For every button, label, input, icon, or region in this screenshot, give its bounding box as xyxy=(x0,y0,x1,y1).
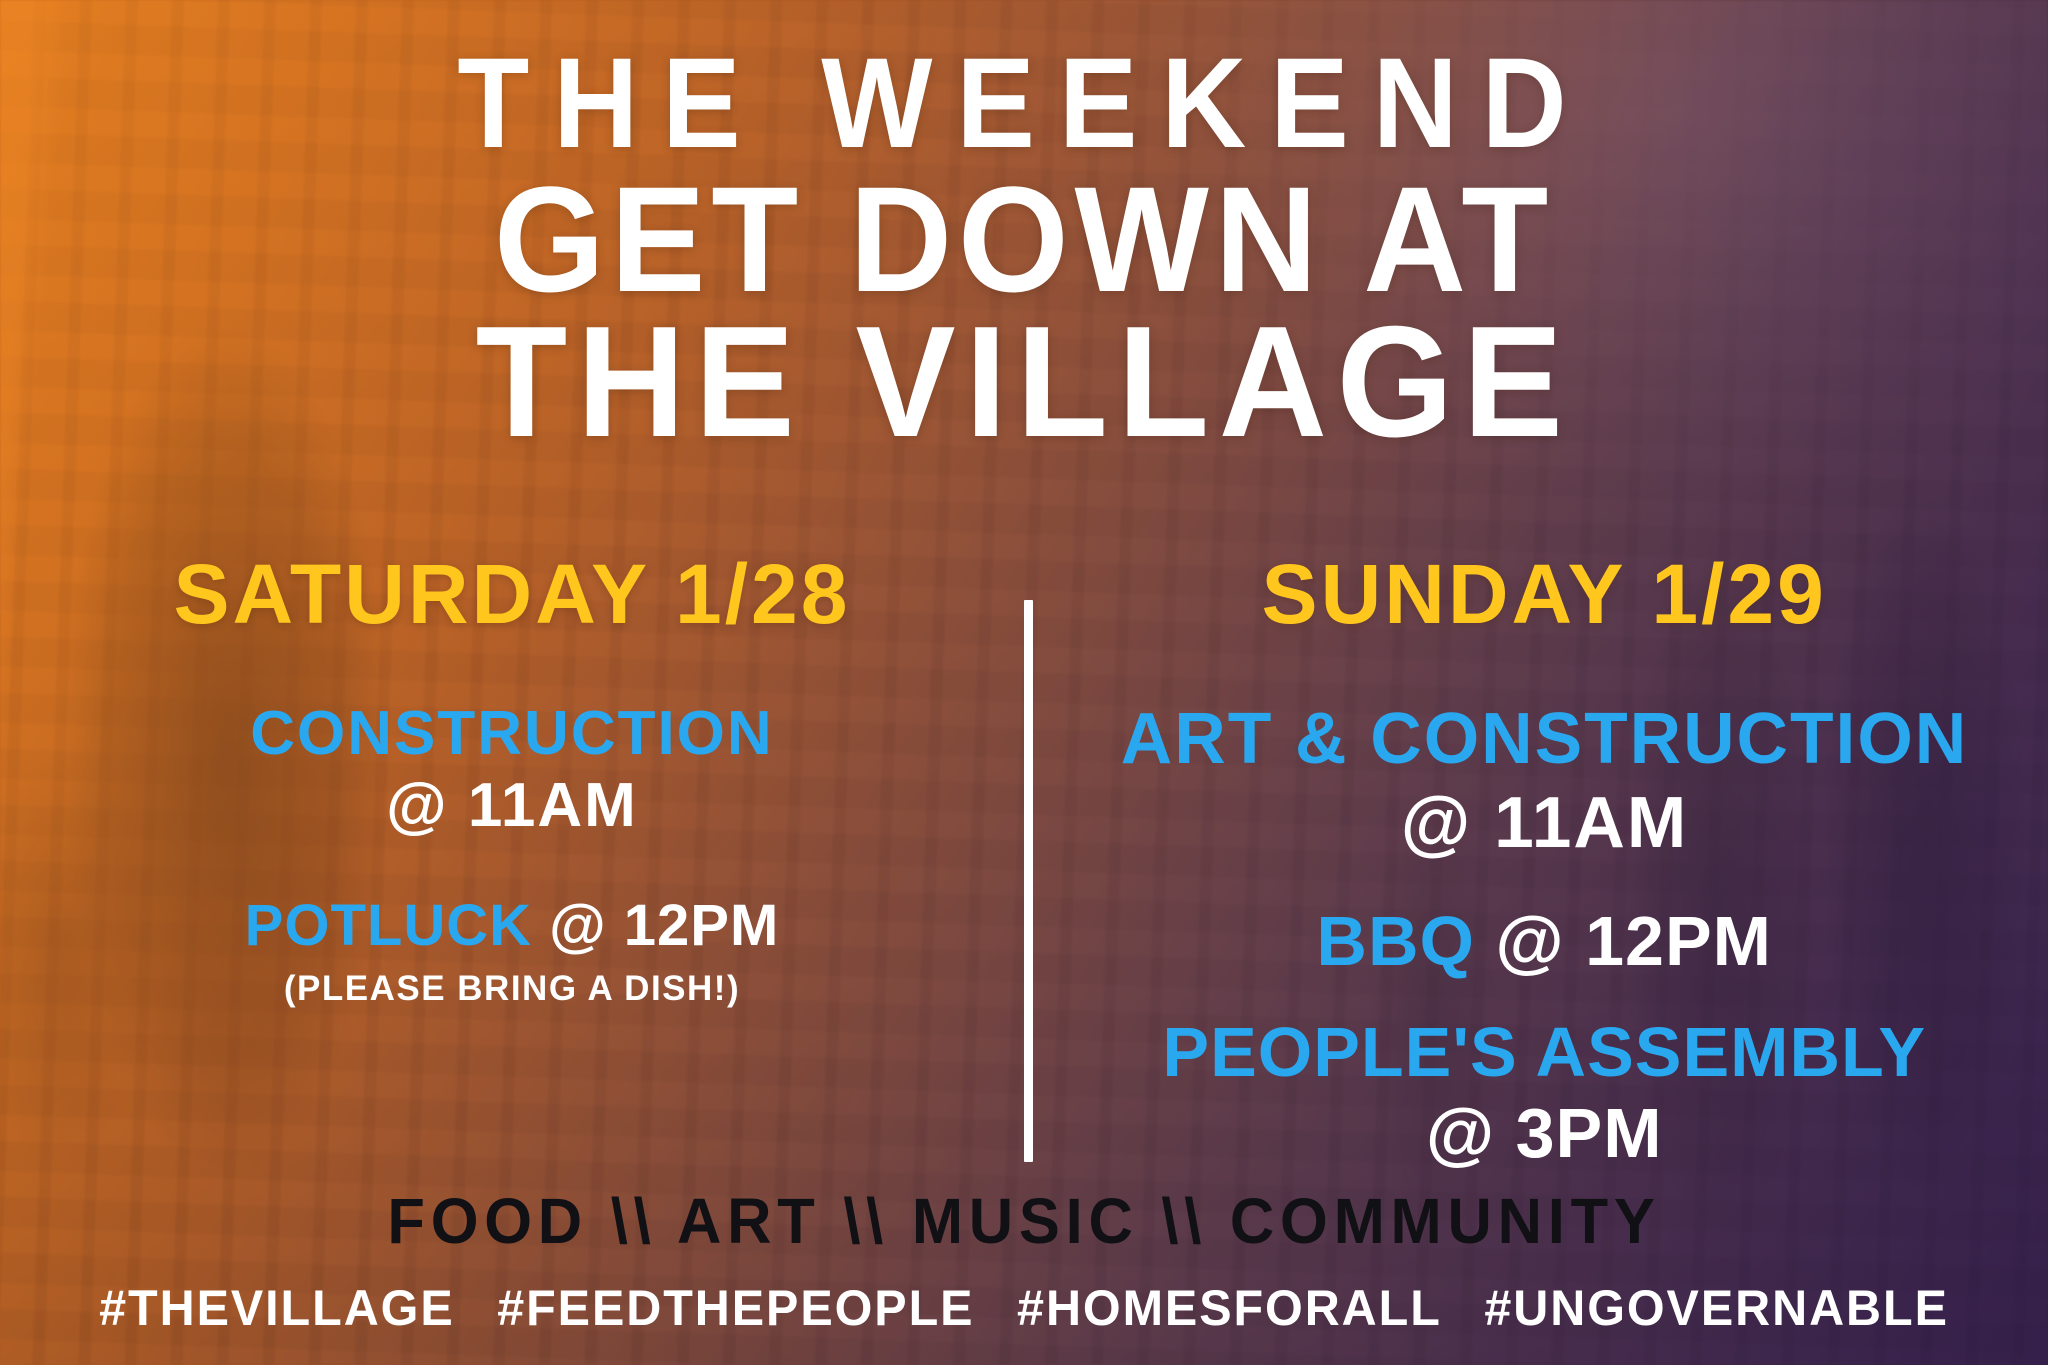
schedule-column-sunday: SUNDAY 1/29 ART & CONSTRUCTION @ 11AM BB… xyxy=(1053,552,2036,1175)
event-item-peoples-assembly: PEOPLE'S ASSEMBLY @ 3PM xyxy=(1053,1012,2036,1174)
event-item-art-construction: ART & CONSTRUCTION @ 11AM xyxy=(1053,698,2036,865)
event-item-bbq: BBQ @ 12PM xyxy=(1053,901,2036,982)
hashtag-thevillage: #THEVILLAGE xyxy=(99,1280,454,1336)
headline-line-1: THE WEEKEND xyxy=(82,38,1966,170)
footer-tagline: FOOD \\ ART \\ MUSIC \\ COMMUNITY xyxy=(41,1189,2007,1253)
event-time-peoples-assembly: @ 3PM xyxy=(1426,1094,1663,1172)
schedule-column-saturday: SATURDAY 1/28 CONSTRUCTION @ 11AM POTLUC… xyxy=(20,552,1003,1009)
poster-headline: THE WEEKEND GET DOWN AT THE VILLAGE xyxy=(0,38,2048,456)
day-header-saturday: SATURDAY 1/28 xyxy=(20,552,1003,636)
event-note-potluck: (PLEASE BRING A DISH!) xyxy=(20,969,1003,1009)
event-time-art-construction: @ 11AM xyxy=(1400,783,1687,863)
event-list-sunday: ART & CONSTRUCTION @ 11AM BBQ @ 12PM xyxy=(1053,698,2036,1175)
event-item-construction: CONSTRUCTION @ 11AM xyxy=(20,698,1003,842)
hashtag-homesforall: #HOMESFORALL xyxy=(1017,1280,1442,1336)
hashtag-ungovernable: #UNGOVERNABLE xyxy=(1484,1280,1948,1336)
headline-line-2: GET DOWN AT xyxy=(51,170,1997,308)
event-time-construction: @ 11AM xyxy=(386,771,638,840)
event-item-potluck: POTLUCK @ 12PM (PLEASE BRING A DISH!) xyxy=(20,892,1003,1009)
poster-footer: FOOD \\ ART \\ MUSIC \\ COMMUNITY #THEVI… xyxy=(0,1189,2048,1337)
footer-hashtags: #THEVILLAGE #FEEDTHEPEOPLE #HOMESFORALL … xyxy=(31,1279,2018,1337)
event-name-potluck: POTLUCK xyxy=(245,893,532,958)
event-time-bbq: @ 12PM xyxy=(1495,902,1772,980)
event-time-potluck: @ 12PM xyxy=(549,893,779,958)
event-name-art-construction: ART & CONSTRUCTION xyxy=(1120,699,1967,779)
schedule-columns: SATURDAY 1/28 CONSTRUCTION @ 11AM POTLUC… xyxy=(0,552,2048,1172)
poster-content: THE WEEKEND GET DOWN AT THE VILLAGE SATU… xyxy=(0,0,2048,1365)
event-name-construction: CONSTRUCTION xyxy=(250,699,773,768)
event-name-bbq: BBQ xyxy=(1316,902,1475,980)
hashtag-feedthepeople: #FEEDTHEPEOPLE xyxy=(497,1280,974,1336)
event-name-peoples-assembly: PEOPLE'S ASSEMBLY xyxy=(1162,1013,1926,1091)
event-list-saturday: CONSTRUCTION @ 11AM POTLUCK @ 12PM (PLEA… xyxy=(20,698,1003,1009)
headline-line-3: THE VILLAGE xyxy=(51,308,1997,457)
event-poster: THE WEEKEND GET DOWN AT THE VILLAGE SATU… xyxy=(0,0,2048,1365)
day-header-sunday: SUNDAY 1/29 xyxy=(1053,552,2036,636)
